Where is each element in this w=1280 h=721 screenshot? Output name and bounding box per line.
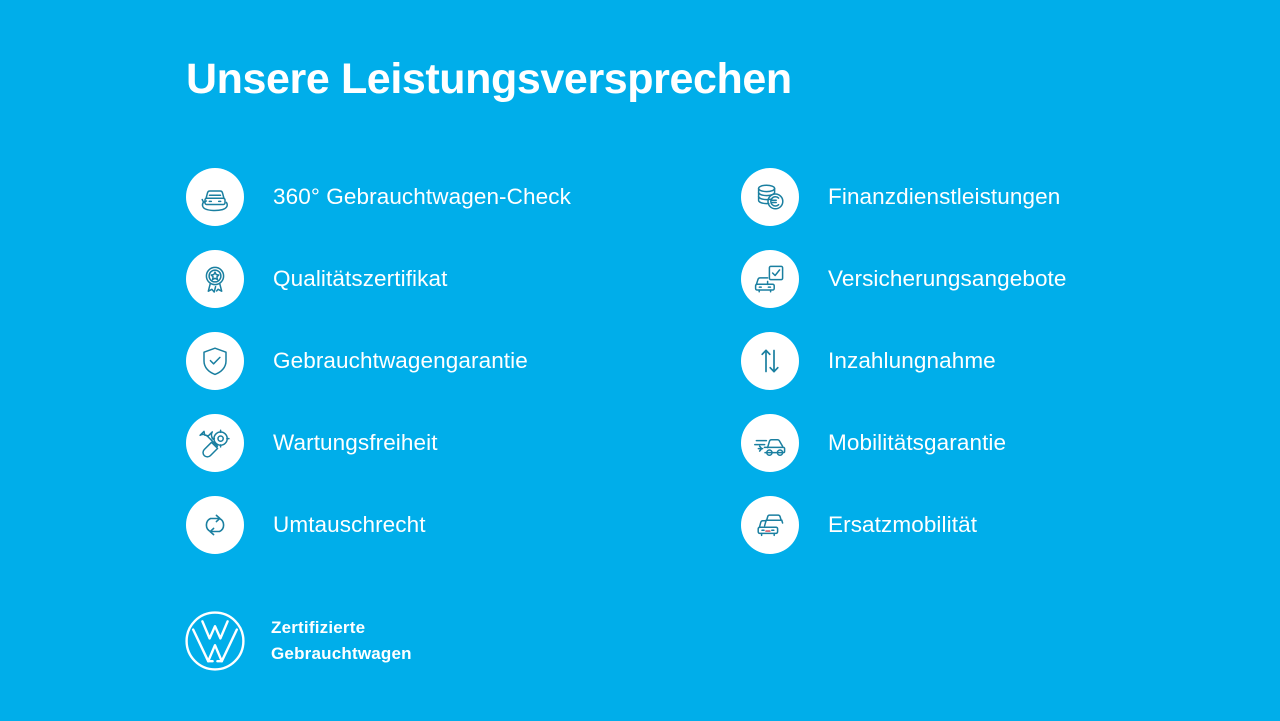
- promise-label: Finanzdienstleistungen: [828, 186, 1060, 209]
- exchange-arrows-icon: [186, 496, 244, 554]
- promise-label: Gebrauchtwagengarantie: [273, 350, 528, 373]
- promise-label: Wartungsfreiheit: [273, 432, 438, 455]
- footer-text: Zertifizierte Gebrauchtwagen: [271, 615, 412, 668]
- two-cars-icon: [741, 496, 799, 554]
- car-speed-icon: [741, 414, 799, 472]
- promises-slide: Unsere Leistungsversprechen 360° Gebra: [0, 0, 1280, 721]
- promise-item-360-check[interactable]: 360° Gebrauchtwagen-Check: [186, 168, 741, 226]
- promises-column-right: Finanzdienstleistungen: [741, 168, 1196, 554]
- promise-item-insurance-offers[interactable]: Versicherungsangebote: [741, 250, 1196, 308]
- footer-branding: Zertifizierte Gebrauchtwagen: [184, 610, 412, 672]
- coins-euro-icon: [741, 168, 799, 226]
- promise-label: Ersatzmobilität: [828, 514, 977, 537]
- arrows-up-down-icon: [741, 332, 799, 390]
- promise-label: 360° Gebrauchtwagen-Check: [273, 186, 571, 209]
- footer-line-1: Zertifizierte: [271, 615, 412, 641]
- car-check-360-icon: [186, 168, 244, 226]
- award-medal-icon: [186, 250, 244, 308]
- promise-item-warranty[interactable]: Gebrauchtwagengarantie: [186, 332, 741, 390]
- promise-label: Versicherungsangebote: [828, 268, 1067, 291]
- promise-item-quality-certificate[interactable]: Qualitätszertifikat: [186, 250, 741, 308]
- footer-line-2: Gebrauchtwagen: [271, 641, 412, 667]
- shield-check-icon: [186, 332, 244, 390]
- promise-item-trade-in[interactable]: Inzahlungnahme: [741, 332, 1196, 390]
- promise-item-mobility-guarantee[interactable]: Mobilitätsgarantie: [741, 414, 1196, 472]
- car-document-check-icon: [741, 250, 799, 308]
- promise-label: Qualitätszertifikat: [273, 268, 447, 291]
- promises-column-left: 360° Gebrauchtwagen-Check Qualitätszerti…: [186, 168, 741, 554]
- promise-item-financial-services[interactable]: Finanzdienstleistungen: [741, 168, 1196, 226]
- page-title: Unsere Leistungsversprechen: [186, 55, 792, 104]
- promise-label: Inzahlungnahme: [828, 350, 996, 373]
- volkswagen-logo: [184, 610, 246, 672]
- promise-label: Umtauschrecht: [273, 514, 426, 537]
- promise-item-exchange-right[interactable]: Umtauschrecht: [186, 496, 741, 554]
- promise-item-maintenance-free[interactable]: Wartungsfreiheit: [186, 414, 741, 472]
- promise-label: Mobilitätsgarantie: [828, 432, 1006, 455]
- promise-item-replacement-mobility[interactable]: Ersatzmobilität: [741, 496, 1196, 554]
- wrench-gear-icon: [186, 414, 244, 472]
- promises-columns: 360° Gebrauchtwagen-Check Qualitätszerti…: [186, 168, 1196, 554]
